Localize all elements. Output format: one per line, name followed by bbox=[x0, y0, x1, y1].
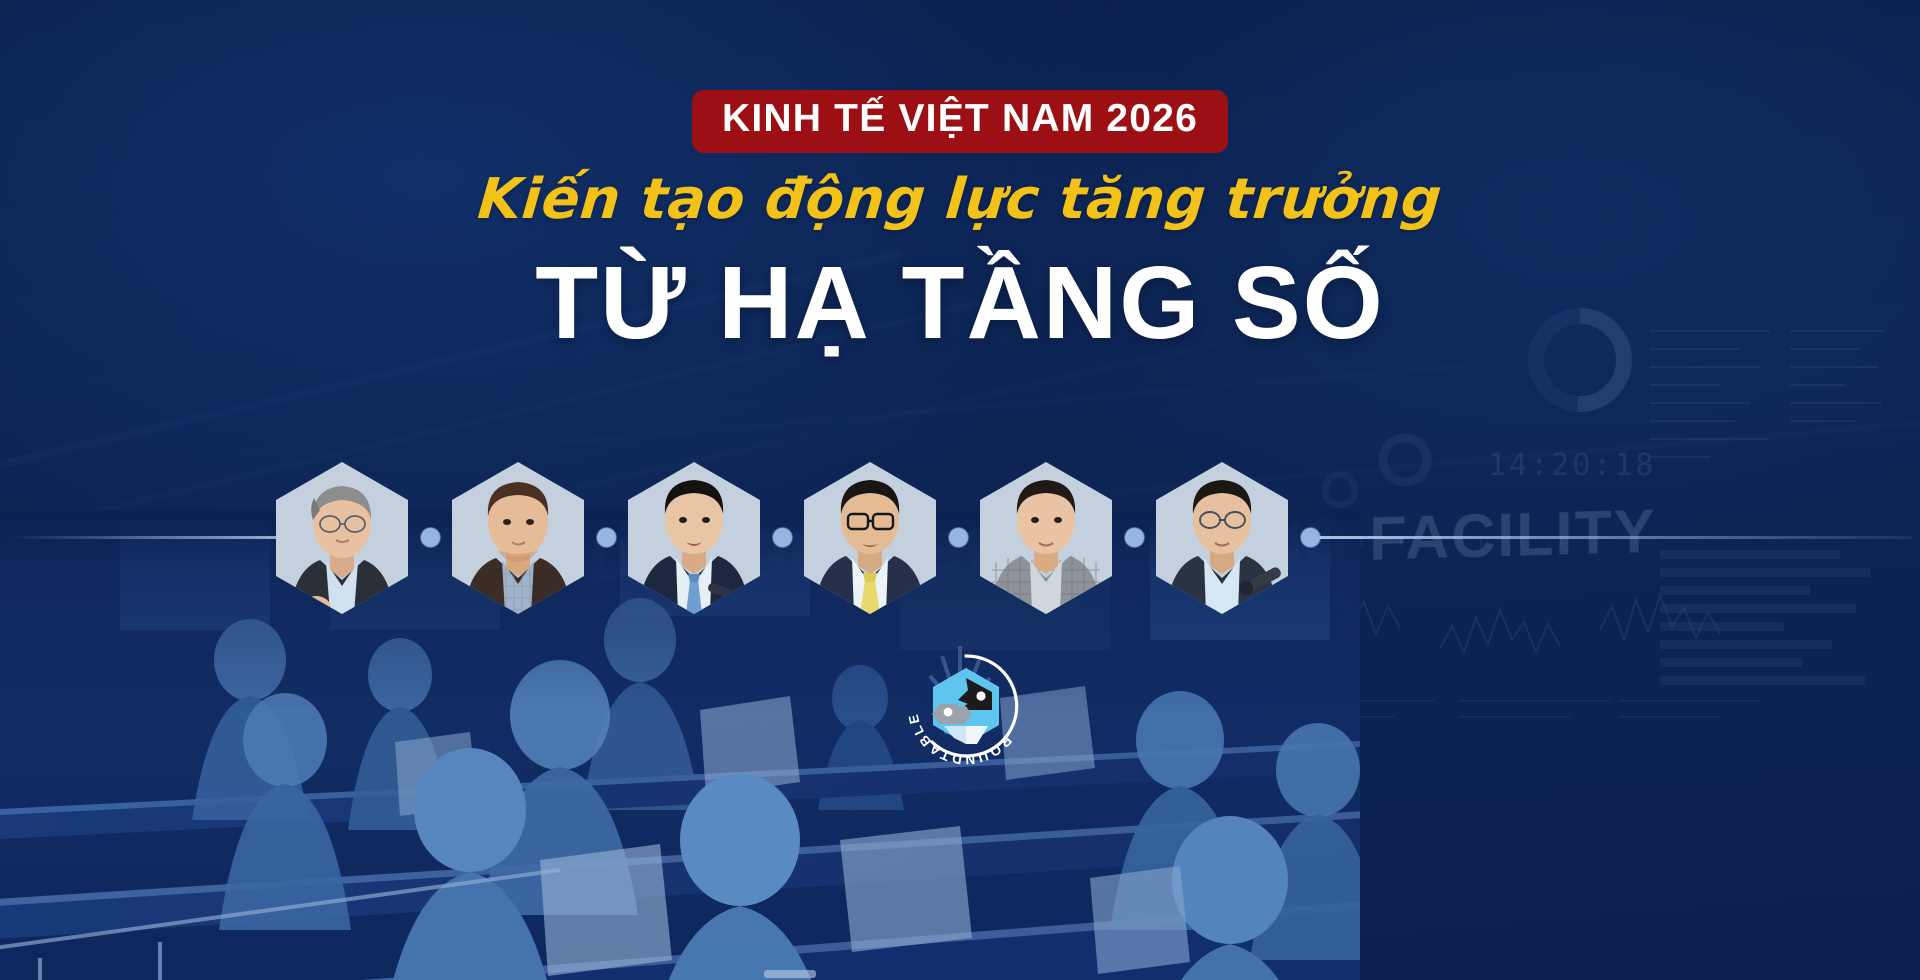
speaker-portrait-3 bbox=[628, 462, 760, 614]
banner-root: 14:20:18 bbox=[0, 0, 1920, 980]
speaker-hexagon-4[interactable] bbox=[804, 462, 936, 614]
speaker-hexagon-row bbox=[0, 0, 1920, 980]
logo-hexagon-emblem bbox=[932, 668, 999, 744]
speaker-portrait-1 bbox=[276, 462, 408, 614]
roundtable-logo[interactable]: ROUNDTABLE bbox=[902, 642, 1030, 770]
speaker-hexagon-6[interactable] bbox=[1156, 462, 1288, 614]
speaker-hexagon-1[interactable] bbox=[276, 462, 408, 614]
speaker-portrait-5 bbox=[980, 462, 1112, 614]
speaker-portrait-2 bbox=[452, 462, 584, 614]
speaker-hexagon-2[interactable] bbox=[452, 462, 584, 614]
speaker-hexagon-3[interactable] bbox=[628, 462, 760, 614]
speaker-portrait-6 bbox=[1156, 462, 1288, 614]
speaker-hexagon-5[interactable] bbox=[980, 462, 1112, 614]
speaker-portrait-4 bbox=[804, 462, 936, 614]
